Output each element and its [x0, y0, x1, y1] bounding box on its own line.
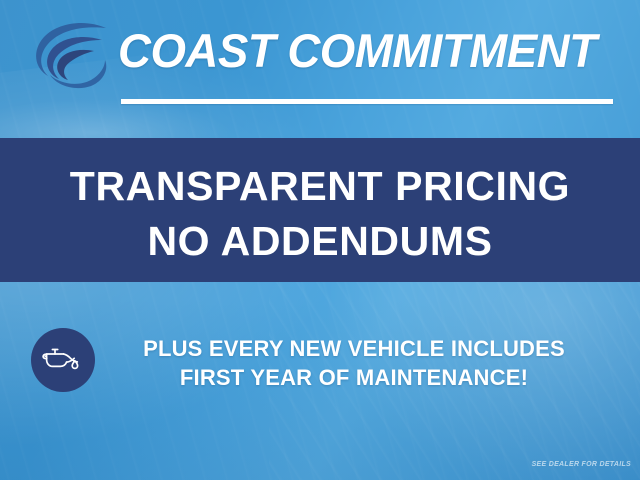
disclaimer-text: SEE DEALER FOR DETAILS	[532, 460, 631, 469]
promo-message: PLUS EVERY NEW VEHICLE INCLUDES FIRST YE…	[104, 334, 604, 392]
oil-can-icon	[31, 328, 95, 392]
headline-band: TRANSPARENT PRICING NO ADDENDUMS	[0, 138, 640, 282]
coast-wave-logo-icon	[28, 18, 114, 90]
headline-line-1: TRANSPARENT PRICING	[0, 162, 640, 210]
brand-title: COAST COMMITMENT	[118, 22, 605, 80]
banner-header: COAST COMMITMENT	[0, 0, 640, 138]
promo-line-1: PLUS EVERY NEW VEHICLE INCLUDES	[104, 334, 604, 363]
header-divider	[121, 99, 613, 104]
promo-line-2: FIRST YEAR OF MAINTENANCE!	[104, 363, 604, 392]
coast-commitment-banner: COAST COMMITMENT TRANSPARENT PRICING NO …	[0, 0, 640, 480]
headline-line-2: NO ADDENDUMS	[0, 217, 640, 265]
